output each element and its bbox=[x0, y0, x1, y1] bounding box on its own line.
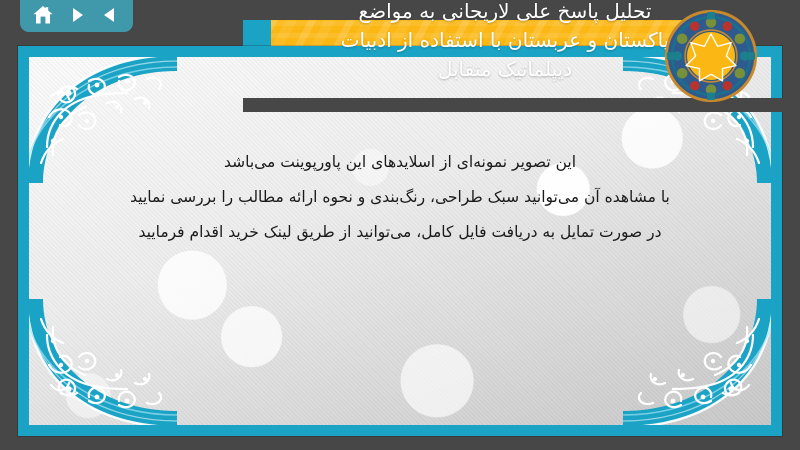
triangle-left-icon bbox=[100, 5, 120, 25]
slide-body-text: این تصویر نمونه‌ای از اسلایدهای این پاور… bbox=[29, 145, 771, 250]
triangle-right-icon bbox=[67, 5, 87, 25]
slide-body-line-1: این تصویر نمونه‌ای از اسلایدهای این پاور… bbox=[29, 145, 771, 180]
slide-preview-window: تحلیل پاسخ علی لاریجانی به مواضع پاکستان… bbox=[0, 0, 800, 450]
arabesque-corner-bottom-right-icon bbox=[623, 299, 771, 425]
arabesque-corner-bottom-left-icon bbox=[29, 299, 177, 425]
slide-canvas: این تصویر نمونه‌ای از اسلایدهای این پاور… bbox=[29, 57, 771, 425]
back-button[interactable] bbox=[97, 2, 123, 28]
home-icon bbox=[32, 4, 54, 26]
forward-button[interactable] bbox=[64, 2, 90, 28]
islamic-medallion-ornament bbox=[663, 8, 759, 104]
slide-body-line-3: در صورت تمایل به دریافت فایل کامل، می‌تو… bbox=[29, 215, 771, 250]
home-button[interactable] bbox=[30, 2, 56, 28]
navigation-bar bbox=[20, 0, 133, 32]
slide-body-line-2: با مشاهده آن می‌توانید سبک طراحی، رنگ‌بن… bbox=[29, 180, 771, 215]
